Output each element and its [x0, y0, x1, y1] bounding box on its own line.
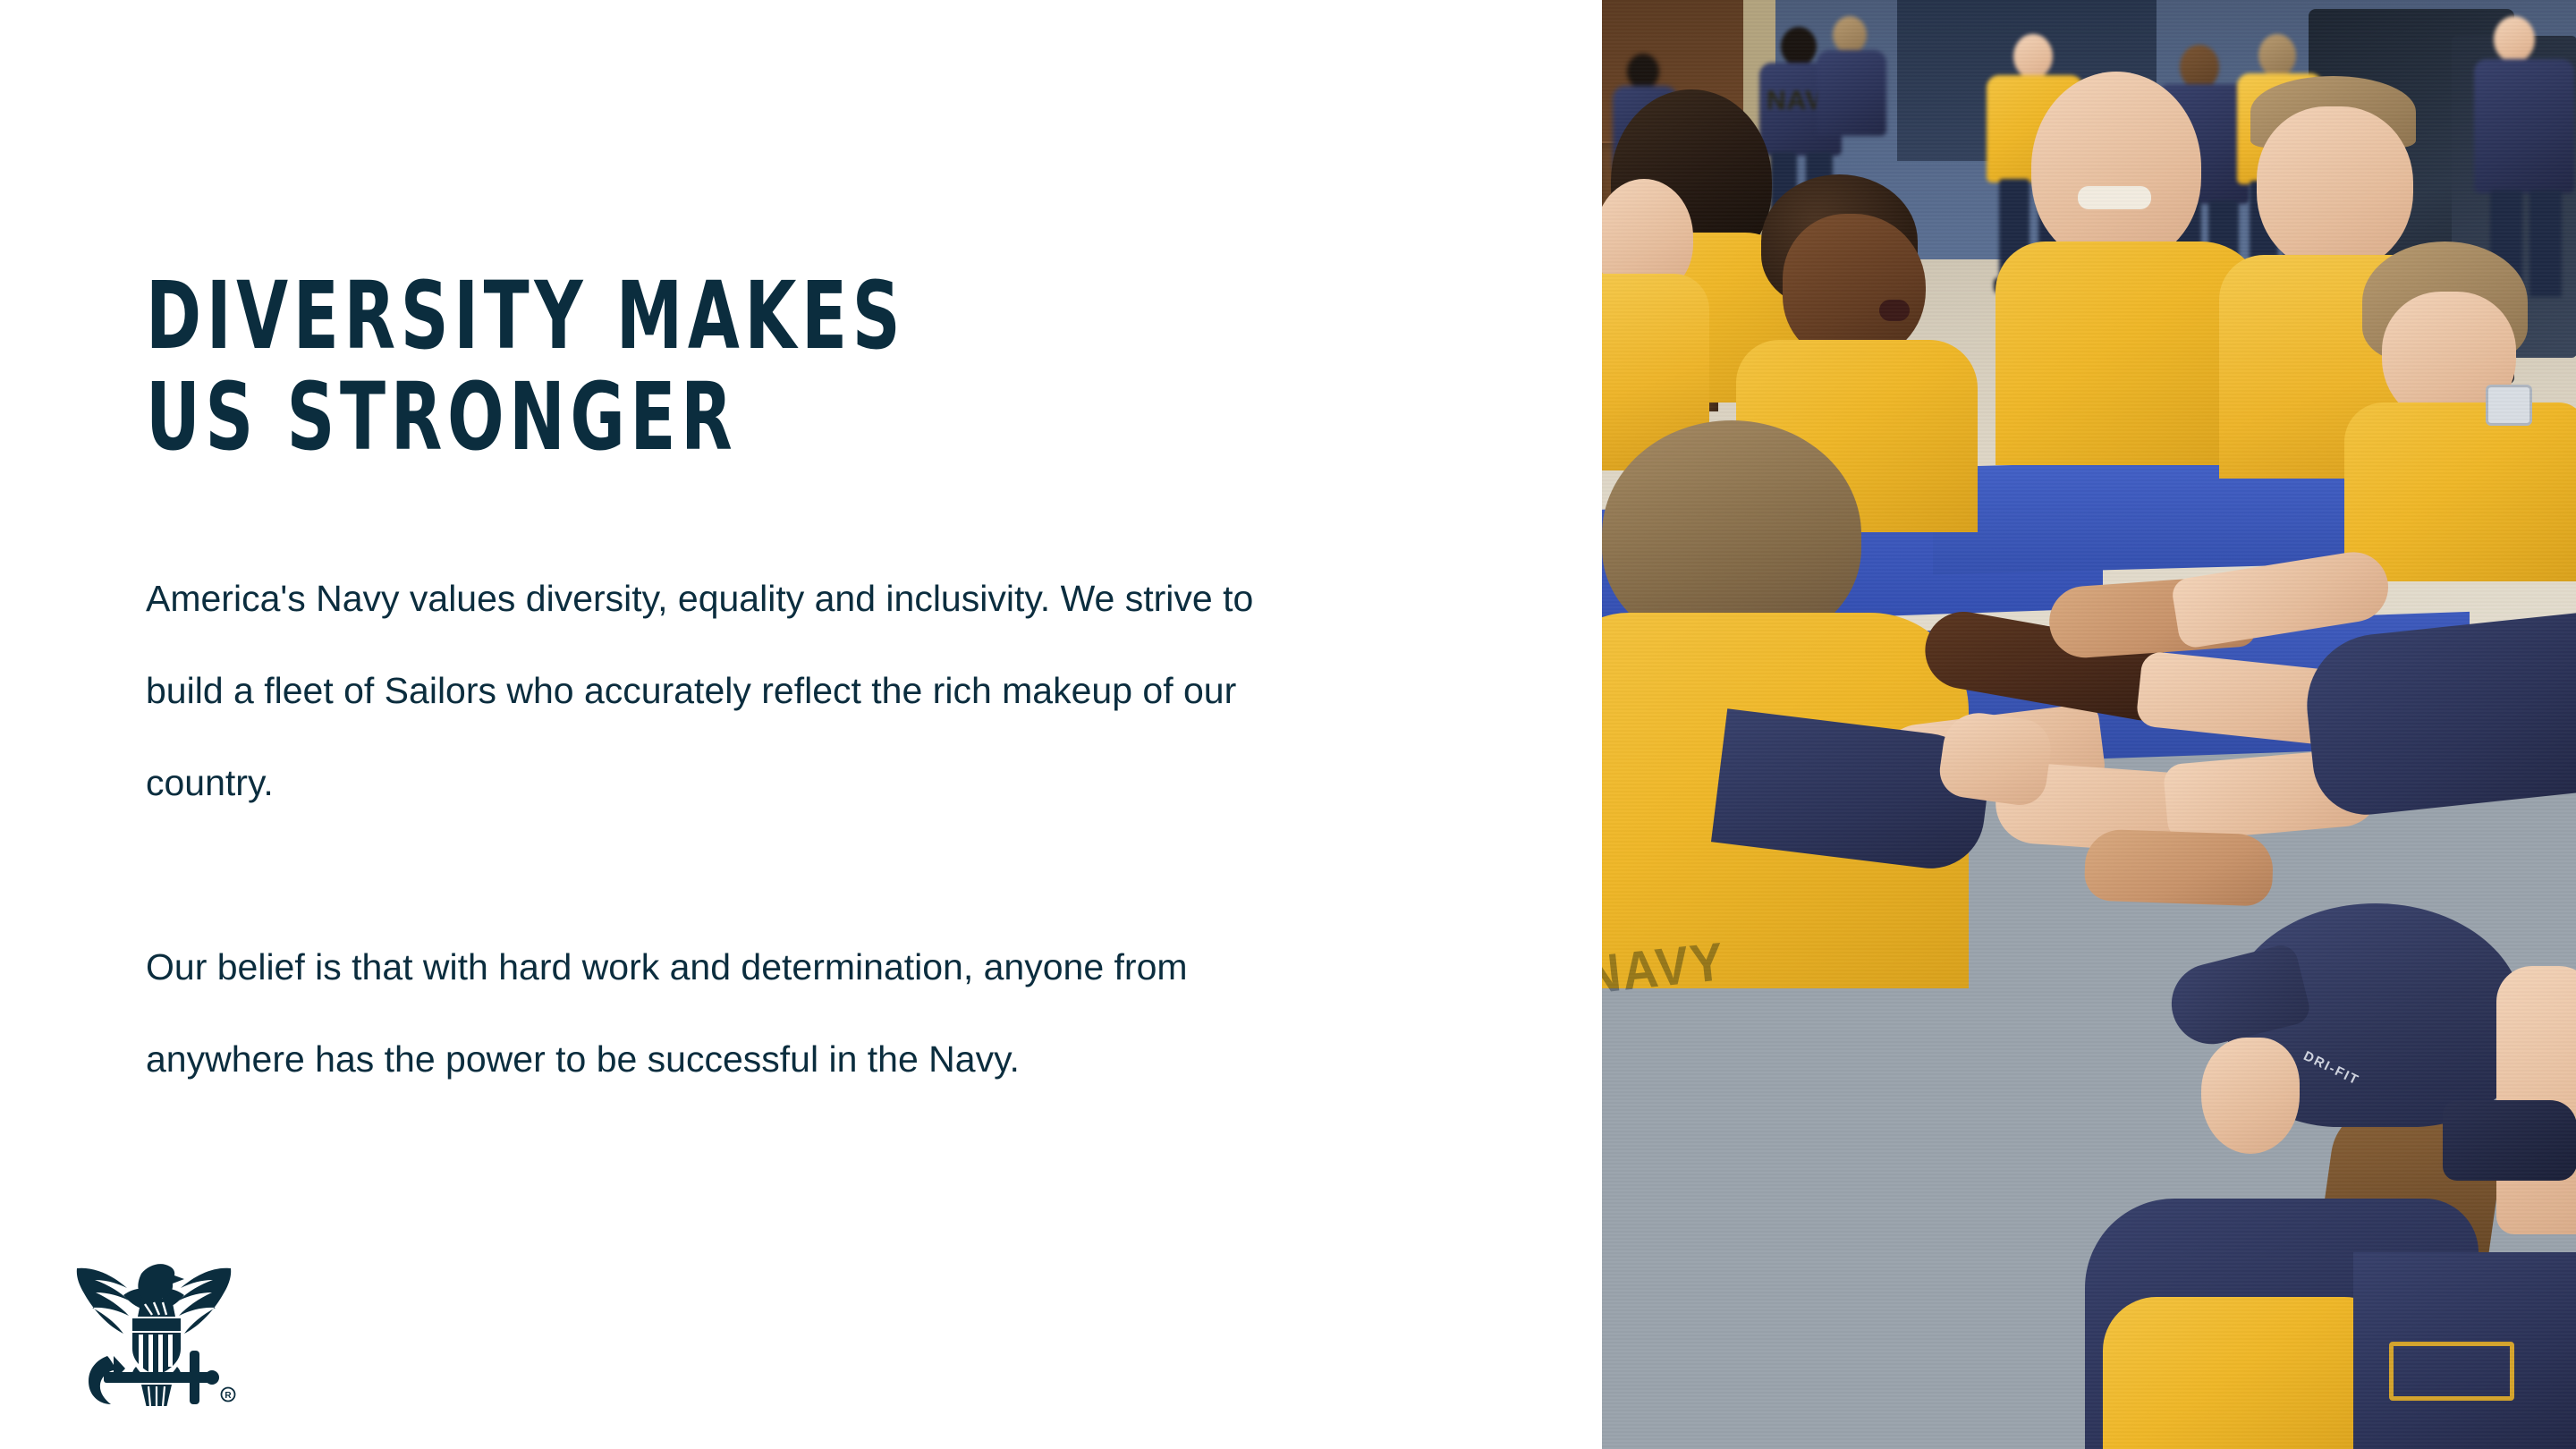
face [2201, 1038, 2300, 1154]
text-panel: Diversity Makes Us Stronger America's Na… [0, 0, 1602, 1449]
body-paragraph-2: Our belief is that with hard work and de… [146, 921, 1309, 1106]
head [2031, 72, 2201, 264]
garment-gold-lettering [2389, 1342, 2514, 1401]
hand [1936, 708, 2055, 809]
page-title: Diversity Makes Us Stronger [146, 266, 1148, 468]
shirt-navy-text: NAVY [1602, 930, 1728, 1006]
body-paragraph-1: America's Navy values diversity, equalit… [146, 553, 1309, 829]
svg-text:R: R [225, 1391, 232, 1401]
mouth [1879, 300, 1910, 321]
navy-eagle-anchor-logo: R [64, 1241, 243, 1406]
sailor-female-right [2344, 241, 2576, 563]
sailors-team-huddle-photo: NAVY [1602, 0, 2576, 1449]
wristwatch [2486, 385, 2532, 426]
teeth [2078, 186, 2151, 209]
registered-trademark-mark: R [222, 1388, 235, 1402]
body-copy: America's Navy values diversity, equalit… [146, 553, 1309, 1106]
gold-shirt [2344, 402, 2576, 581]
hand [2084, 828, 2275, 906]
slide-root: Diversity Makes Us Stronger America's Na… [0, 0, 2576, 1449]
athletic-shoe [2443, 1100, 2576, 1181]
